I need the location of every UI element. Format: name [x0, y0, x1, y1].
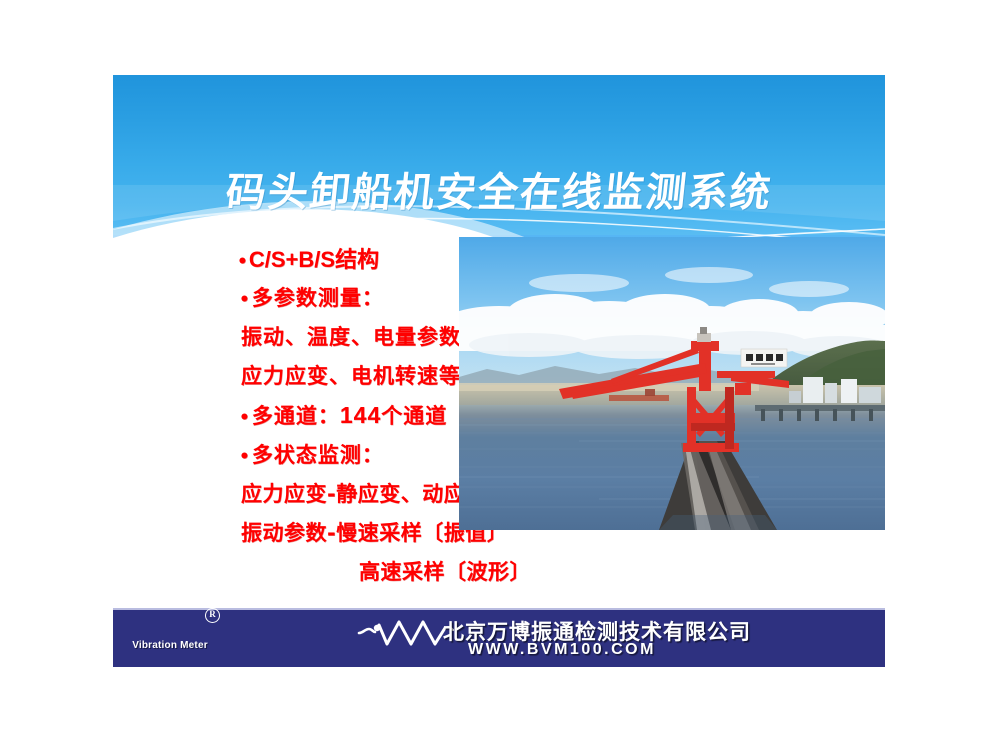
channel-count: 144 — [340, 402, 381, 428]
bullet-marker: • — [239, 408, 251, 428]
bullet-label: 振动、温度、电量参数、 — [241, 325, 483, 349]
bullet-item-2: •多参数测量： — [239, 282, 384, 312]
channel-unit: 个通道 — [381, 404, 447, 428]
slide-body: 码头卸船机安全在线监测系统 •C/S+B/S结构 •多参数测量： 振动、温度、电… — [113, 75, 885, 667]
bullet-label: 多参数测量： — [252, 286, 384, 310]
slide-title: 码头卸船机安全在线监测系统 — [113, 171, 885, 215]
bullet-item-9: 高速采样〔波形〕 — [359, 556, 531, 586]
bullet-marker: • — [239, 290, 251, 310]
footer-top-divider — [113, 608, 885, 610]
bullet-label: C/S+B/S结构 — [249, 247, 379, 272]
bullet-label: 应力应变、电机转速等 — [241, 364, 461, 388]
bullet-label: 多通道： — [252, 404, 340, 428]
bullet-item-3: 振动、温度、电量参数、 — [241, 321, 483, 351]
logo-subtitle: Vibration Meter — [115, 640, 225, 651]
slide-canvas: 码头卸船机安全在线监测系统 •C/S+B/S结构 •多参数测量： 振动、温度、电… — [0, 0, 1000, 750]
bullet-marker: • — [237, 252, 248, 272]
bullet-label: 高速采样〔波形〕 — [359, 560, 531, 584]
bullet-item-1: •C/S+B/S结构 — [237, 242, 379, 274]
registered-trademark-icon: R — [205, 608, 220, 623]
bullet-item-6: •多状态监测： — [239, 439, 384, 469]
bullet-label: 多状态监测： — [252, 443, 384, 467]
company-website: WWW.BVM100.COM — [468, 641, 656, 659]
bullet-item-4: 应力应变、电机转速等 — [241, 360, 461, 390]
footer-bar: R Vibration Meter 北京万博振通检测技术有限公司 WWW.BVM… — [113, 608, 885, 667]
bullet-marker: • — [239, 447, 251, 467]
bullet-item-5: •多通道：144个通道 — [239, 400, 447, 430]
crane-photo — [459, 237, 885, 530]
